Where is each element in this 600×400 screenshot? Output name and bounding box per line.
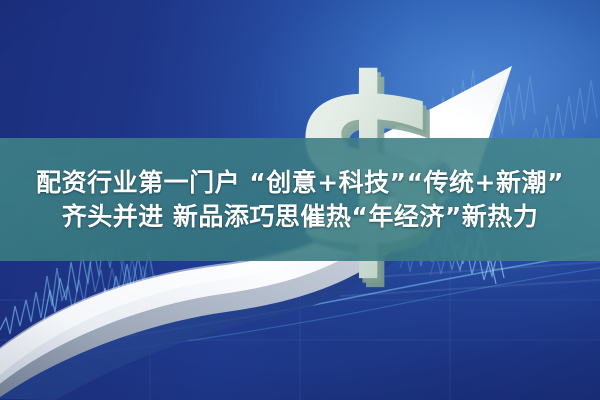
background-vignette [0,0,600,400]
financial-news-banner: $ $ $ 配资行业第一门户 “创意+科技”“传统+新潮” 齐头并进 新品添巧思… [0,0,600,400]
